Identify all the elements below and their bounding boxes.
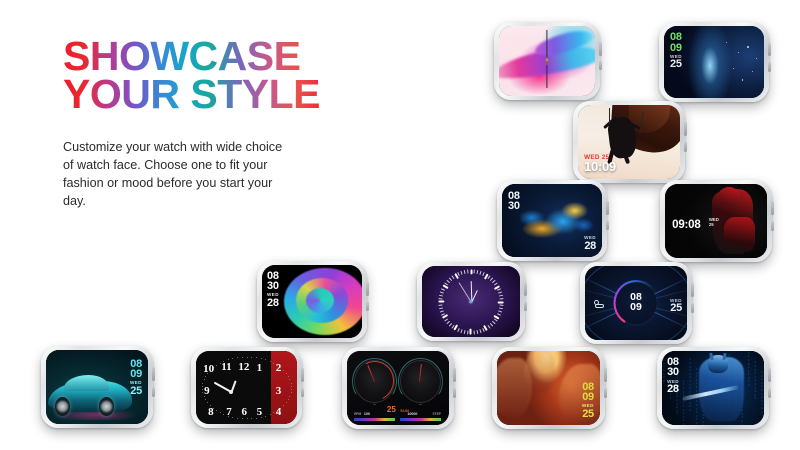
minute-dot (232, 358, 233, 359)
watch-case: 08 09 WED 25 (659, 22, 769, 102)
poster-stage: SHOWCASE YOUR STYLE Customize your watch… (0, 0, 800, 450)
car-roof (64, 375, 109, 391)
time-complication: WED 25 10:09 (584, 155, 616, 174)
minute-dot (265, 359, 266, 360)
minute-value: 30 (508, 201, 520, 212)
watch-screen: 08 30 WED 28 (262, 265, 362, 338)
minute-dot (289, 396, 290, 397)
date-complication: WED 25 (670, 297, 682, 313)
matrix-column: 0 1 0 1 1 0 1 0 0 1 1 1 0 1 0 0 1 0 1 1 … (663, 351, 665, 384)
watch-screen: 0809 WED 25 (585, 266, 687, 340)
star-speck (738, 52, 739, 53)
watch-case: 08 30 WED 28 (497, 180, 607, 261)
minute-value: 09 (630, 301, 642, 313)
watch-screen: WED 25 10:09 (578, 105, 680, 179)
watch-case: 09:08 WED 25 (660, 180, 772, 262)
day-value: 28 (667, 384, 679, 395)
watch-screen (499, 26, 595, 96)
date-complication: WED 28 (584, 235, 596, 251)
watch-screen: 0 1 0 1 1 0 1 0 0 1 1 1 0 1 0 0 1 0 1 1 … (662, 351, 764, 425)
left-meter: RPM 100 (354, 412, 395, 421)
watch-case: 10 11 12 1 2 3 4 5 6 7 8 9 (191, 347, 302, 428)
left-meter-value: 100 (364, 412, 370, 416)
date-complication: WED 25 (709, 218, 719, 227)
minute-dot (273, 363, 274, 364)
minute-dot (202, 383, 203, 384)
matrix-column: 1 1 0 1 0 0 1 1 1 0 1 0 0 1 0 1 1 0 1 (683, 380, 685, 425)
watch-case: 0 1 0 1 1 0 1 0 0 1 1 1 0 1 0 0 1 0 1 1 … (657, 347, 769, 429)
minute-dot (216, 365, 217, 366)
minute-dot (270, 414, 271, 415)
minute-value: 09 (582, 392, 594, 403)
ninja-legs (724, 217, 755, 253)
minute-value: 09 (130, 369, 142, 380)
watch-face-tech-hud[interactable]: 0809 WED 25 (580, 262, 692, 344)
minute-dot (286, 402, 287, 403)
minute-value: 09 (670, 43, 682, 54)
minute-dot (202, 389, 203, 390)
hand-hub (546, 59, 549, 62)
minute-dot (265, 416, 266, 417)
watch-face-earth-from-space[interactable]: 08 09 WED 25 (659, 22, 769, 102)
day-value: 25 (130, 386, 142, 397)
ninja-head (718, 187, 740, 206)
watch-case: 0809 WED 25 (580, 262, 692, 344)
minute-dot (291, 392, 292, 393)
time-complication: 08 30 WED 28 (667, 357, 679, 395)
matrix-column: 1 0 1 0 0 1 1 1 0 1 0 0 1 0 1 1 0 1 (689, 358, 691, 412)
left-meter-label: RPM (354, 412, 361, 416)
minute-dot (237, 418, 238, 419)
rose-center (306, 288, 334, 313)
watch-case: 08 09 WED 25 (41, 346, 153, 428)
time-value: 09:08 (672, 219, 700, 231)
watch-face-blue-hero[interactable]: 0 1 0 1 1 0 1 0 0 1 1 1 0 1 0 0 1 0 1 1 … (657, 347, 769, 429)
numeral: 8 (208, 406, 214, 418)
numeral: 6 (241, 406, 247, 418)
day-value: 25 (670, 303, 682, 314)
star-speck (756, 58, 757, 59)
matrix-column: 0 0 1 1 1 0 1 0 0 1 0 1 1 0 1 (761, 371, 763, 415)
sun-cloud-icon (593, 300, 606, 310)
numeral: 9 (204, 385, 210, 397)
minute-dot (216, 410, 217, 411)
watch-face-red-ninja[interactable]: 09:08 WED 25 (660, 180, 772, 262)
phoenix-artwork (520, 199, 594, 244)
numeral: 7 (226, 406, 232, 418)
hand-hub (229, 390, 233, 394)
right-meter-bar (400, 418, 441, 421)
watch-case: 25 SUN RPM 100 STEP 10000 (342, 347, 454, 429)
watch-face-antelope-canyon[interactable]: 08 09 WED 25 (492, 347, 605, 429)
climbing-rope (609, 108, 610, 124)
numeral: 4 (276, 406, 282, 418)
day-value: 25 (582, 409, 594, 420)
watch-case (417, 262, 525, 341)
minute-dot (261, 358, 262, 359)
watch-screen: 08 30 WED 28 (502, 184, 602, 257)
minute-dot (273, 412, 274, 413)
minute-dot (205, 399, 206, 400)
minute-dot (289, 379, 290, 380)
minute-dot (242, 357, 243, 358)
watch-screen: 08 09 WED 25 (497, 351, 600, 425)
right-meter-value: 10000 (407, 412, 417, 416)
watch-screen: 10 11 12 1 2 3 4 5 6 7 8 9 (196, 351, 297, 424)
minute-dot (223, 414, 224, 415)
right-meter-label: STEP (433, 412, 441, 416)
minute-dot (270, 361, 271, 362)
minute-value: 30 (667, 367, 679, 378)
watch-screen: 08 09 WED 25 (46, 350, 148, 424)
watch-case (494, 22, 600, 100)
watch-case: WED 25 10:09 (573, 101, 685, 183)
minute-dot (291, 383, 292, 384)
watch-face-twin-gauges[interactable]: 25 SUN RPM 100 STEP 10000 (342, 347, 454, 429)
numeral: 11 (221, 361, 231, 373)
watch-face-rainbow-rose[interactable]: 08 30 WED 28 (257, 261, 367, 342)
watch-face-rock-climber[interactable]: WED 25 10:09 (573, 101, 685, 183)
page-title: SHOWCASE YOUR STYLE (63, 38, 333, 113)
right-meter: STEP 10000 (400, 412, 441, 421)
day-value: 28 (584, 241, 596, 252)
watch-face-phoenix-bird[interactable]: 08 30 WED 28 (497, 180, 607, 261)
cloud-shape (595, 304, 604, 309)
minute-dot (251, 357, 252, 358)
progress-ring: 0809 (614, 280, 659, 326)
watch-face-fluid-gradient[interactable] (494, 22, 600, 100)
minute-value: 30 (267, 281, 279, 292)
minute-dot (288, 399, 289, 400)
watch-case: 08 30 WED 28 (257, 261, 367, 342)
minute-dot (286, 373, 287, 374)
matrix-column: 1 0 0 1 1 1 0 1 0 0 1 0 1 1 0 1 (754, 361, 756, 400)
star-speck (747, 46, 749, 48)
numeral: 1 (257, 362, 263, 374)
minute-dot (288, 376, 289, 377)
day-value: 28 (267, 298, 279, 309)
watch-screen: 09:08 WED 25 (665, 184, 767, 258)
watch-face-sports-car[interactable]: 08 09 WED 25 (41, 346, 153, 428)
minute-dot (247, 418, 248, 419)
minute-dot (202, 386, 203, 387)
minute-dot (207, 402, 208, 403)
time-value: 10:09 (584, 161, 616, 173)
body-copy: Customize your watch with wide choice of… (63, 139, 295, 211)
watch-screen (422, 266, 520, 337)
numeral: 3 (276, 385, 282, 397)
watch-screen: 25 SUN RPM 100 STEP 10000 (347, 351, 449, 425)
time-complication: 08 09 WED 25 (670, 32, 682, 70)
numeral: 2 (276, 362, 282, 374)
time-complication: 08 09 WED 25 (130, 359, 142, 397)
minute-dot (283, 370, 284, 371)
matrix-column: 0 1 0 0 1 1 1 0 1 0 0 1 0 1 1 0 1 (748, 352, 750, 386)
numeral: 10 (203, 363, 214, 375)
canyon-swirl (524, 351, 555, 392)
watch-screen: 08 09 WED 25 (664, 26, 764, 98)
left-meter-bar (354, 418, 395, 421)
minute-dot (205, 376, 206, 377)
minute-dot (251, 418, 252, 419)
day-value: 25 (670, 59, 682, 70)
headline-line-2: YOUR STYLE (63, 76, 333, 114)
minute-dot (237, 357, 238, 358)
minute-dot (291, 389, 292, 390)
watch-case: 08 09 WED 25 (492, 347, 605, 429)
minute-dot (256, 357, 257, 358)
time-complication: 08 30 WED 28 (267, 271, 279, 309)
minute-dot (220, 412, 221, 413)
watch-face-red-black-numerals[interactable]: 10 11 12 1 2 3 4 5 6 7 8 9 (191, 347, 302, 428)
time-complication: 08 09 WED 25 (582, 382, 594, 420)
numeral: 5 (257, 406, 263, 418)
numeral: 12 (238, 361, 249, 373)
minute-dot (232, 417, 233, 418)
minute-dot (283, 405, 284, 406)
minute-dot (291, 386, 292, 387)
time-complication: 0809 (615, 282, 657, 325)
minute-dot (247, 357, 248, 358)
minute-dot (204, 379, 205, 380)
star-speck (752, 71, 753, 72)
time-complication: 08 30 (508, 191, 520, 212)
time-stack: 0809 (630, 293, 642, 313)
copy-block: SHOWCASE YOUR STYLE Customize your watch… (63, 38, 333, 211)
watch-face-purple-analog[interactable] (417, 262, 525, 341)
day-value: 25 (709, 222, 714, 227)
